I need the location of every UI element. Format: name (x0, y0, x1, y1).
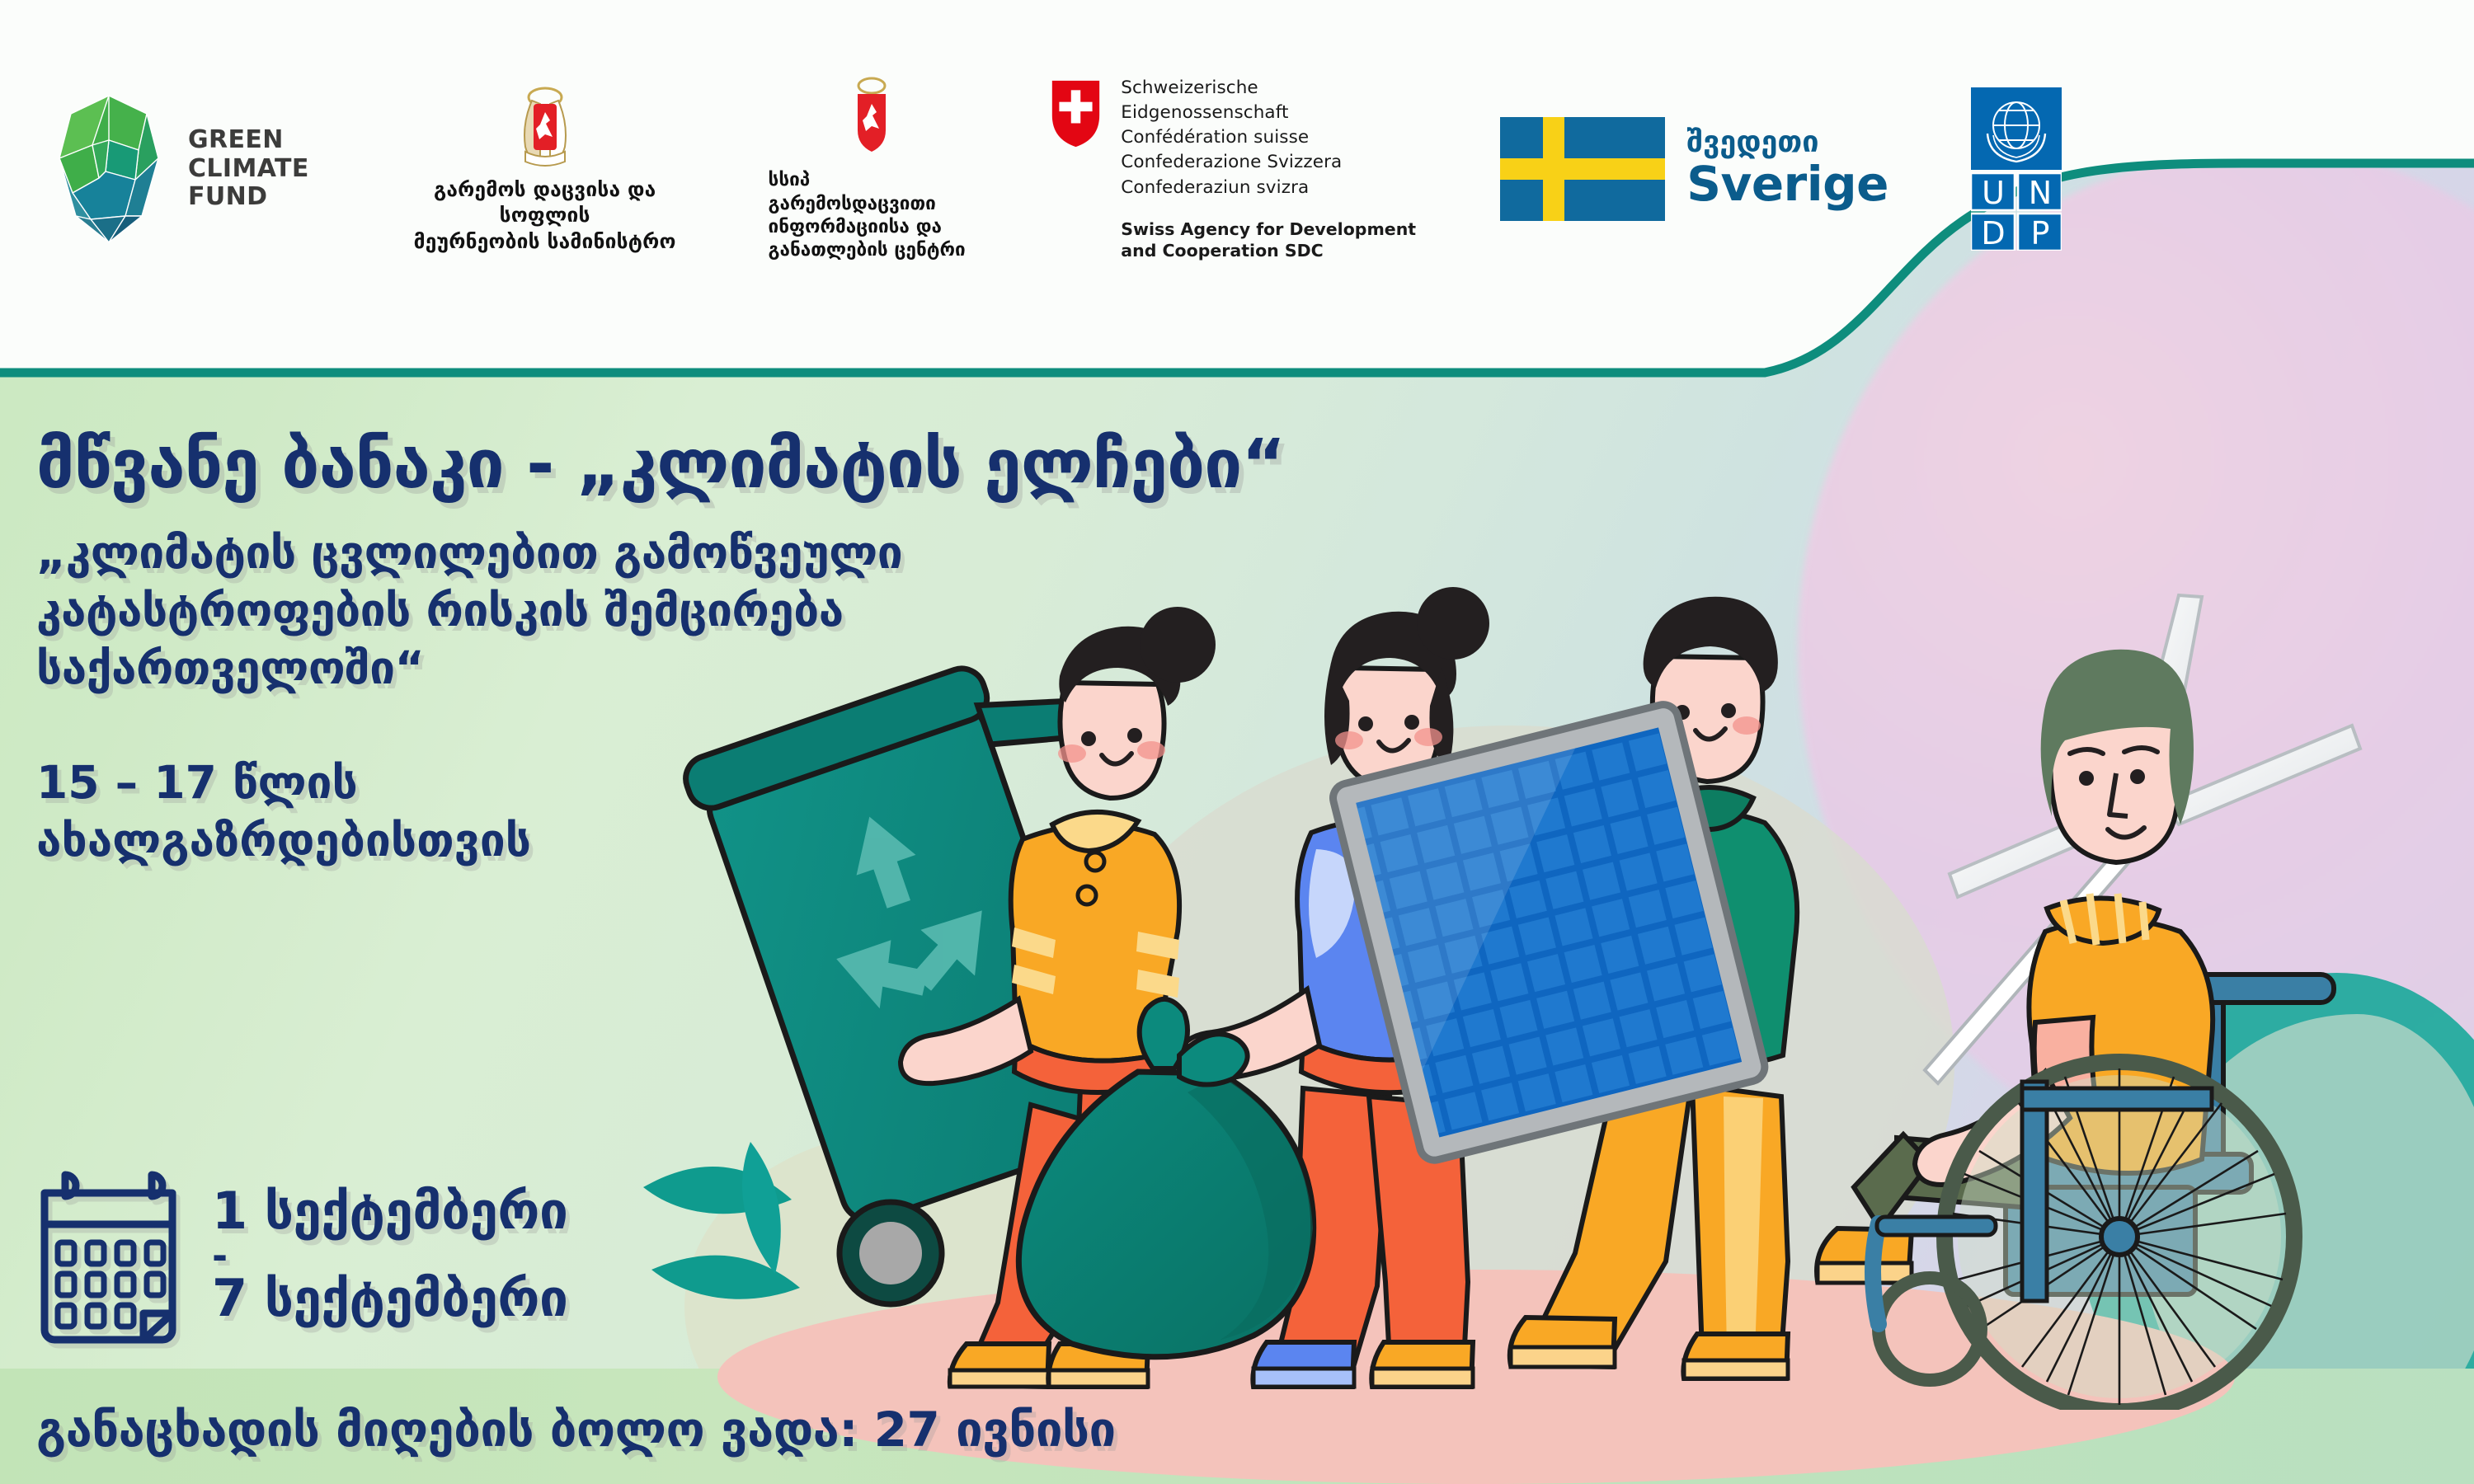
logo-undp: UN DP (1971, 87, 2062, 251)
swiss-wordmark: Schweizerische Eidgenossenschaft Confédé… (1121, 76, 1418, 262)
ssip-line-3: განათლების ცენტრი (769, 238, 976, 261)
event-dates-block: 1 სექტემბერი - 7 სექტემბერი (36, 1167, 567, 1344)
date-range: 1 სექტემბერი - 7 სექტემბერი (212, 1184, 567, 1327)
swiss-lang-it: Confederazione Svizzera (1121, 150, 1418, 175)
swiss-lang-fr: Confédération suisse (1121, 125, 1418, 150)
person-in-wheelchair-with-wind-turbine (1817, 595, 2360, 1410)
sweden-label-ka: შვედეთი (1686, 128, 1888, 157)
logo-ministry-environment: გარემოს დაცვისა და სოფლის მეურნეობის სამ… (392, 84, 698, 254)
calendar-icon (36, 1167, 181, 1344)
logo-swiss-sdc: Schweizerische Eidgenossenschaft Confédé… (1049, 76, 1418, 262)
swiss-languages: Schweizerische Eidgenossenschaft Confédé… (1121, 76, 1418, 200)
sweden-flag-icon (1500, 117, 1665, 221)
ssip-line-2: ინფორმაციისა და (769, 215, 976, 238)
subtitle-line-1: „კლიმატის ცვლილებით გამოწვეული (36, 524, 1372, 581)
svg-text:D: D (1981, 215, 2005, 251)
poster-canvas: GREEN CLIMATE FUND გარემოს დაცვისა და სო… (0, 0, 2474, 1484)
main-copy-block: მწვანე ბანაკი - „კლიმატის ელჩები“ „კლიმა… (36, 429, 1372, 870)
swiss-lang-rm: Confederaziun svizra (1121, 176, 1418, 200)
project-subtitle: „კლიმატის ცვლილებით გამოწვეული კატასტროფ… (36, 524, 1372, 697)
ssip-wordmark: სსიპ გარემოსდაცვითი ინფორმაციისა და განა… (769, 168, 976, 261)
age-group-line-2: ახალგაზრდებისთვის (36, 811, 1372, 869)
swiss-agency-line-1: Swiss Agency for Development (1121, 218, 1418, 241)
gcf-line-2: CLIMATE (188, 155, 309, 184)
svg-text:U: U (1982, 175, 2005, 211)
gcf-line-1: GREEN (188, 126, 309, 155)
svg-text:P: P (2031, 215, 2050, 251)
subtitle-line-2: კატასტროფების რისკის შემცირება (36, 581, 1372, 639)
sweden-label-en: Sverige (1686, 157, 1888, 211)
mepa-line-2: მეურნეობის სამინისტრო (392, 228, 698, 254)
georgia-shield-icon (843, 76, 901, 162)
swiss-lang-de: Schweizerische Eidgenossenschaft (1121, 76, 1418, 125)
date-start: 1 სექტემბერი (212, 1184, 567, 1239)
swiss-agency-name: Swiss Agency for Development and Coopera… (1121, 218, 1418, 262)
gcf-wordmark: GREEN CLIMATE FUND (188, 126, 309, 212)
mepa-line-1: გარემოს დაცვისა და სოფლის (392, 176, 698, 228)
gcf-polygon-icon (43, 92, 175, 246)
mepa-wordmark: გარემოს დაცვისა და სოფლის მეურნეობის სამ… (392, 176, 698, 254)
application-deadline: განაცხადის მიღების ბოლო ვადა: 27 ივნისი (36, 1402, 1116, 1458)
ssip-line-1: სსიპ გარემოსდაცვითი (769, 168, 976, 215)
wheelchair-wheel (1945, 1062, 2294, 1410)
logo-ssip-eiec: სსიპ გარემოსდაცვითი ინფორმაციისა და განა… (769, 76, 976, 261)
swiss-agency-line-2: and Cooperation SDC (1121, 240, 1418, 262)
un-emblem-icon: UN DP (1971, 87, 2062, 251)
partner-logo-row: GREEN CLIMATE FUND გარემოს დაცვისა და სო… (0, 82, 2062, 256)
swiss-cross-icon (1049, 76, 1103, 152)
georgia-coat-of-arms-icon (489, 84, 601, 170)
age-group-text: 15 – 17 წლის ახალგაზრდებისთვის (36, 754, 1372, 870)
subtitle-line-3: საქართველოში“ (36, 639, 1372, 697)
sweden-wordmark: შვედეთი Sverige (1686, 128, 1888, 211)
logo-sweden: შვედეთი Sverige (1500, 117, 1888, 221)
date-end: 7 სექტემბერი (212, 1271, 567, 1327)
page-title: მწვანე ბანაკი - „კლიმატის ელჩები“ (36, 429, 1372, 502)
gcf-line-3: FUND (188, 183, 309, 212)
date-separator: - (212, 1242, 567, 1270)
age-group-line-1: 15 – 17 წლის (36, 754, 1372, 811)
svg-text:N: N (2029, 175, 2052, 211)
logo-green-climate-fund: GREEN CLIMATE FUND (43, 92, 309, 246)
